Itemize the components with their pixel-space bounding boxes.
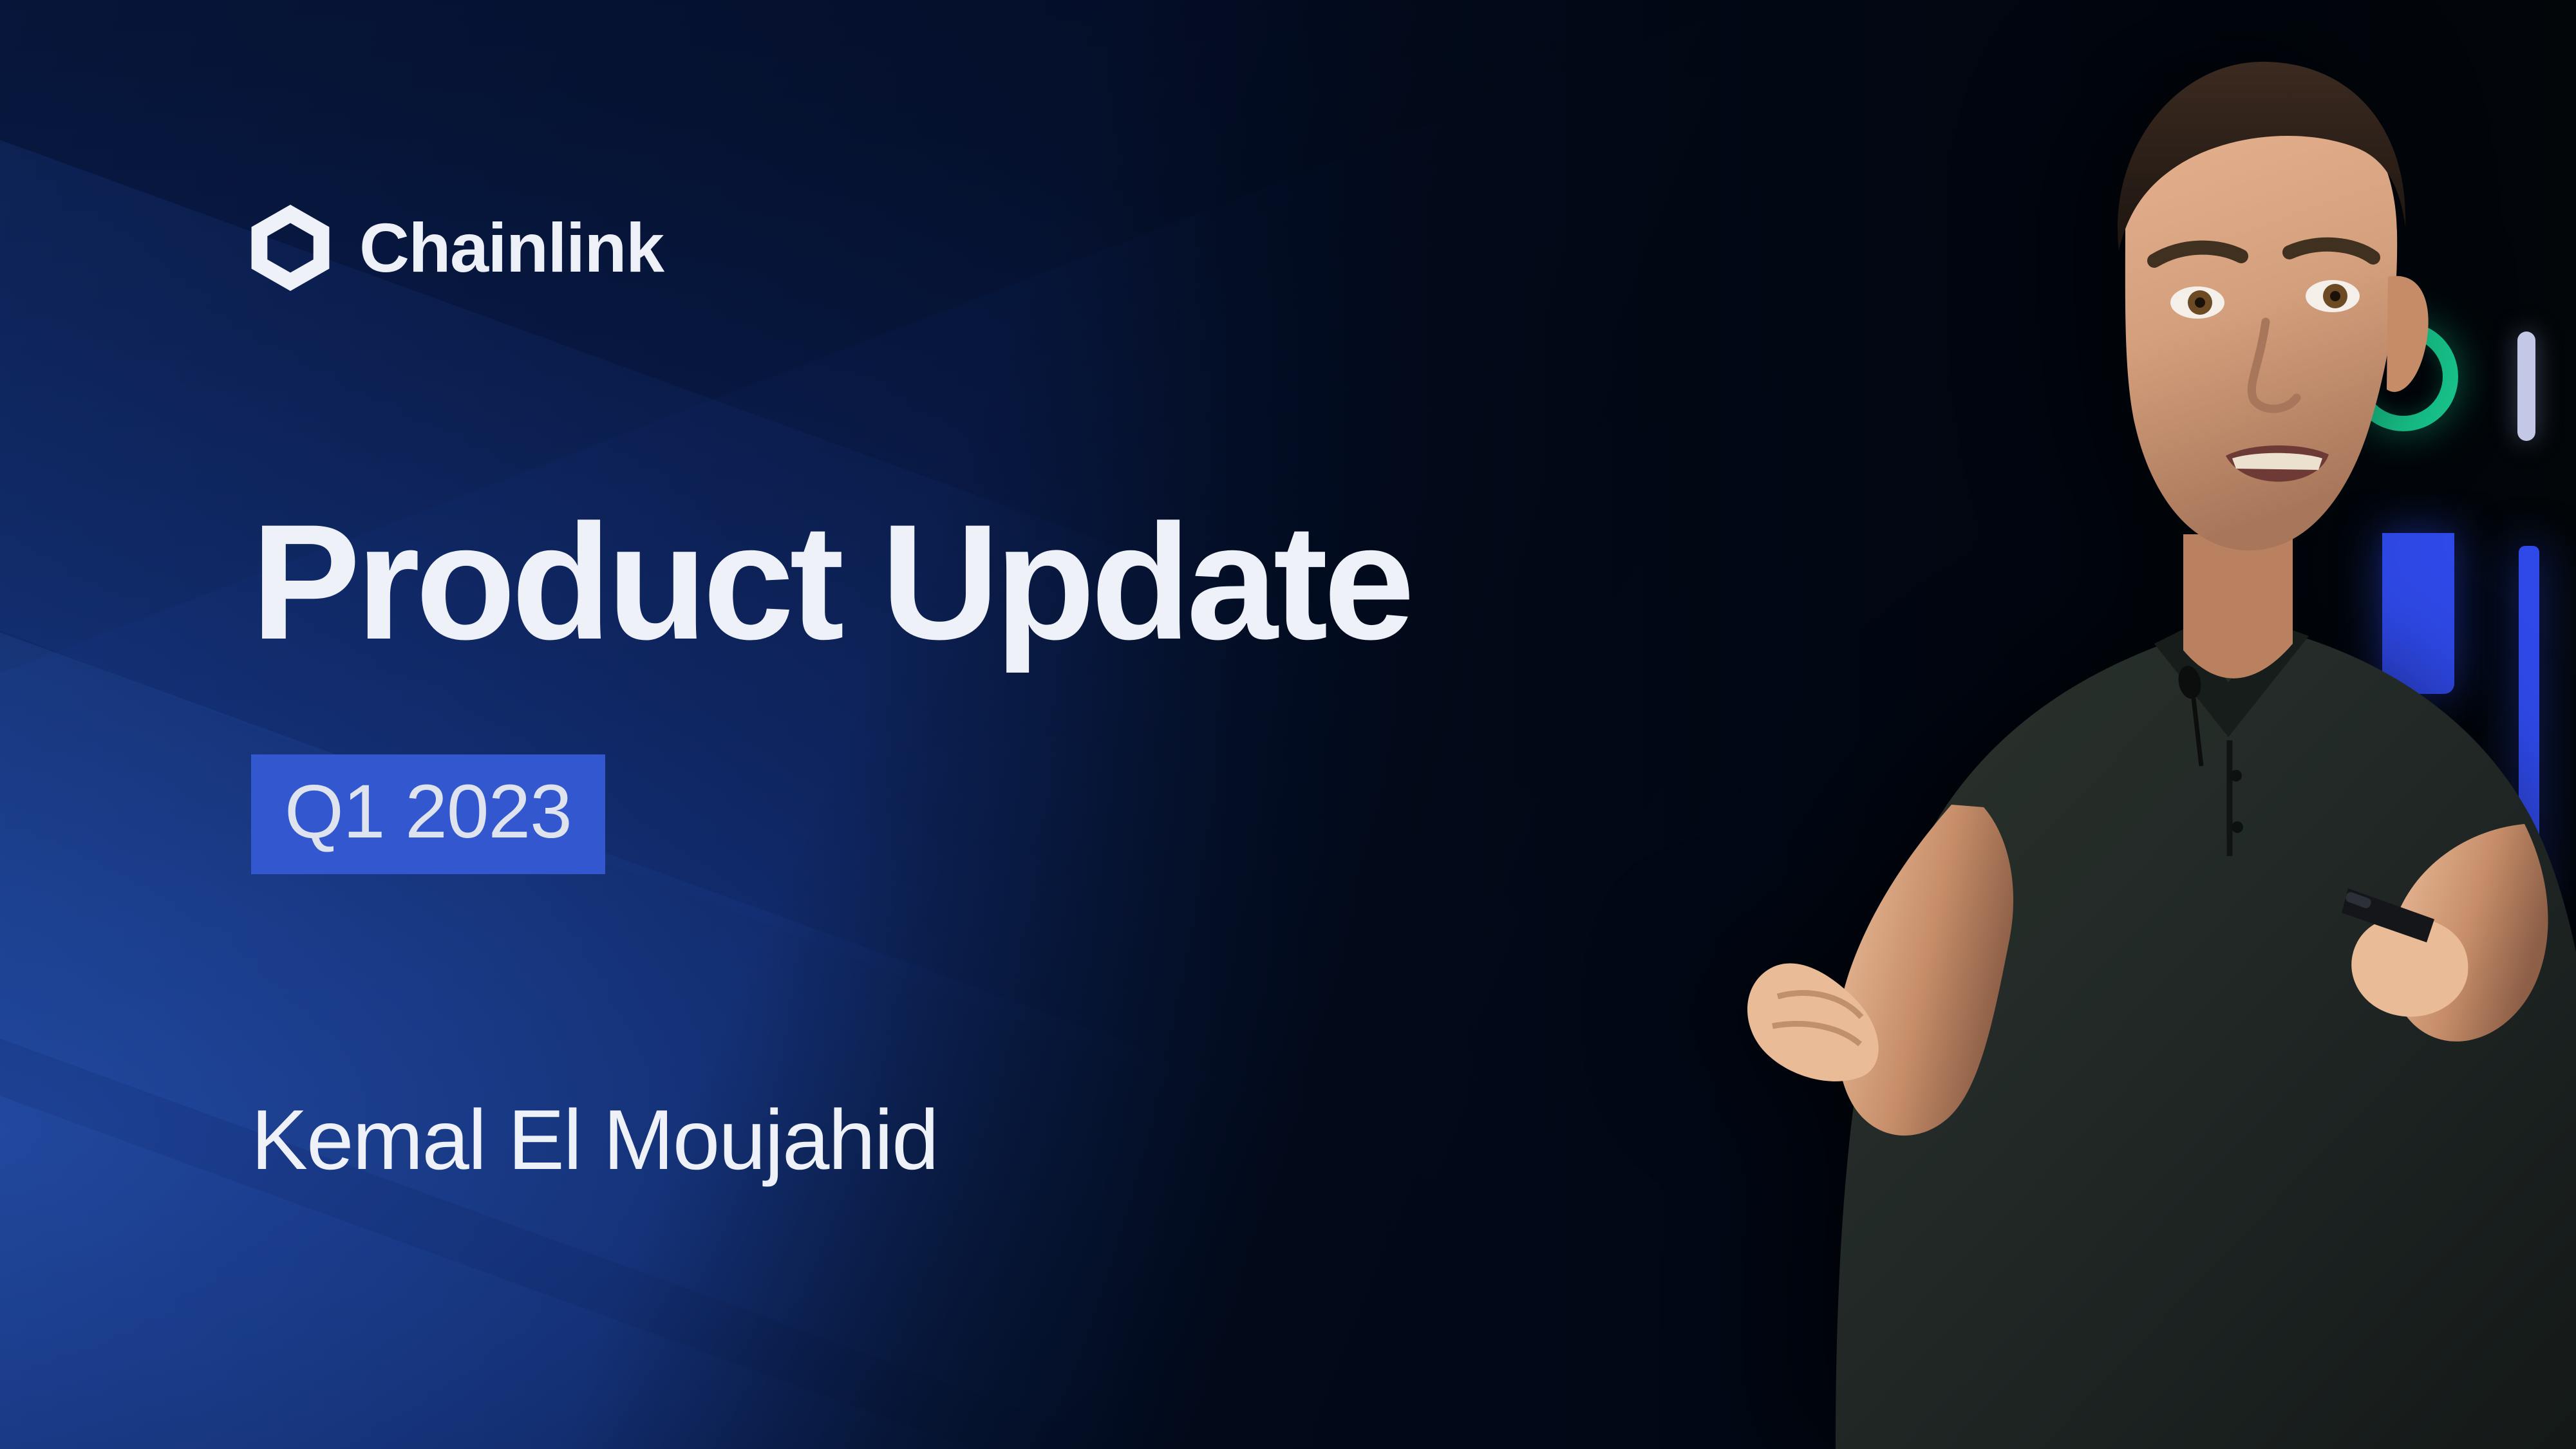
chainlink-brand-lockup: Chainlink bbox=[251, 205, 664, 291]
presenter-name: Kemal El Moujahid bbox=[251, 1091, 938, 1189]
quarter-badge-label: Q1 2023 bbox=[285, 769, 572, 854]
presentation-title-slide: Chainlink Product Update Q1 2023 Kemal E… bbox=[0, 0, 2576, 1449]
page-title: Product Update bbox=[251, 496, 1410, 669]
quarter-badge: Q1 2023 bbox=[251, 754, 605, 874]
chainlink-brand-name: Chainlink bbox=[359, 213, 664, 283]
slide-content: Chainlink Product Update Q1 2023 Kemal E… bbox=[251, 0, 1925, 1449]
chainlink-hexagon-logo-icon bbox=[251, 205, 330, 291]
